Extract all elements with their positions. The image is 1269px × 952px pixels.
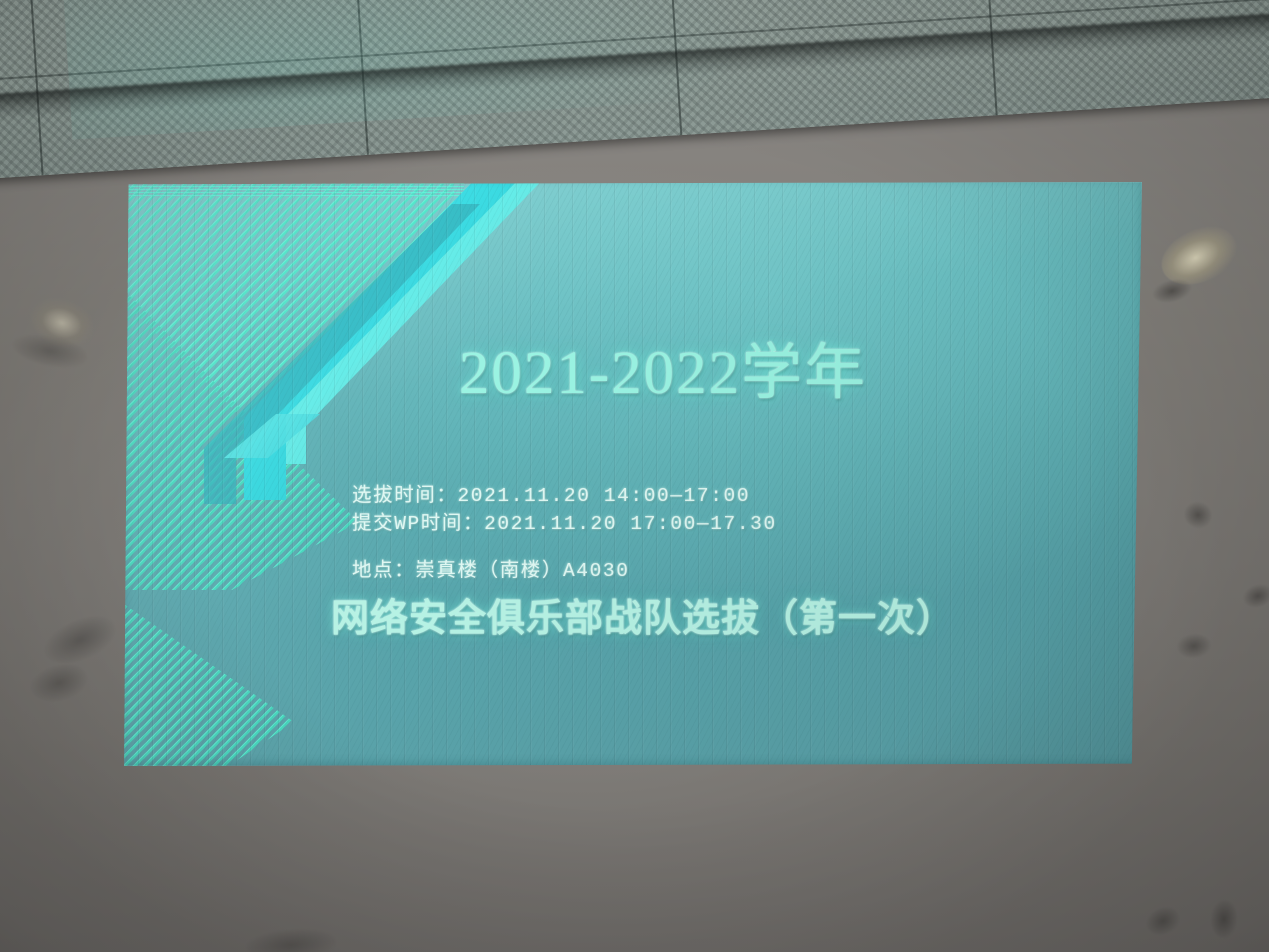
- photo-of-projected-slide: 2021-2022学年 网络安全俱乐部战队选拔（第一次） 选拔时间：2021.1…: [0, 0, 1269, 952]
- photo-vignette: [0, 0, 1269, 952]
